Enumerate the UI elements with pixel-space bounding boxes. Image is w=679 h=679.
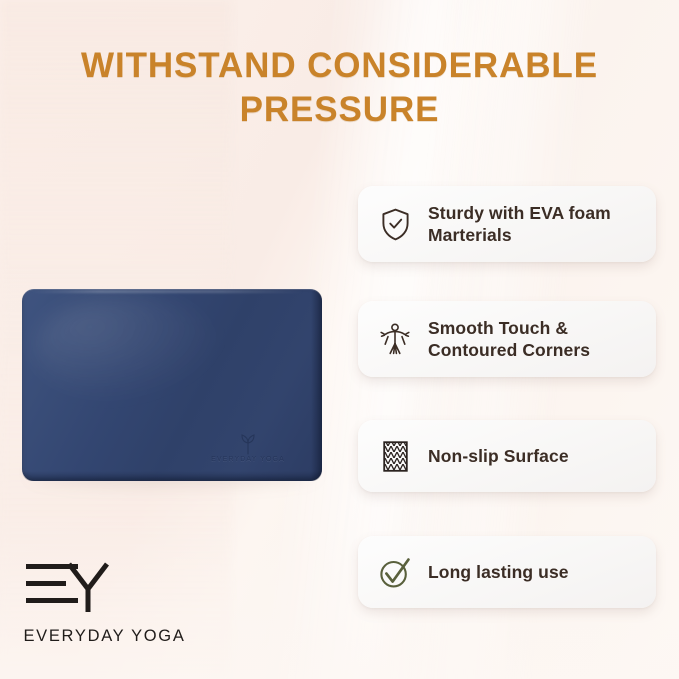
headline-title: WITHSTAND CONSIDERABLE PRESSURE bbox=[40, 44, 639, 133]
yoga-block-embossed-text: EVERYDAY YOGA bbox=[196, 456, 300, 463]
check-circle-icon bbox=[378, 553, 412, 591]
feature-card-list: Sturdy with EVA foam Marterials bbox=[358, 186, 656, 608]
ey-monogram-icon bbox=[22, 556, 187, 619]
vitruvian-figure-icon bbox=[378, 320, 412, 358]
y-leaf-mark-icon bbox=[196, 433, 300, 455]
brand-logo: EVERYDAY YOGA bbox=[22, 556, 187, 646]
feature-card-sturdy[interactable]: Sturdy with EVA foam Marterials bbox=[358, 186, 656, 262]
feature-card-label: Smooth Touch & Contoured Corners bbox=[428, 317, 642, 362]
yoga-block-bottom-edge bbox=[22, 471, 322, 481]
yoga-block-top-edge bbox=[30, 290, 304, 293]
yoga-block-embossed-logo: EVERYDAY YOGA bbox=[196, 433, 300, 463]
feature-card-long-lasting[interactable]: Long lasting use bbox=[358, 536, 656, 608]
yoga-block-side-face bbox=[311, 289, 322, 481]
feature-card-label: Sturdy with EVA foam Marterials bbox=[428, 202, 642, 247]
yoga-block-highlight bbox=[34, 295, 220, 401]
feature-card-label: Long lasting use bbox=[428, 561, 569, 583]
product-image: EVERYDAY YOGA bbox=[22, 289, 322, 481]
product-feature-graphic: WITHSTAND CONSIDERABLE PRESSURE EVERYDAY… bbox=[0, 0, 679, 679]
textured-surface-icon bbox=[378, 437, 412, 475]
brand-name-text: EVERYDAY YOGA bbox=[22, 627, 187, 646]
yoga-block-body: EVERYDAY YOGA bbox=[22, 289, 322, 481]
shield-check-icon bbox=[378, 205, 412, 243]
feature-card-non-slip[interactable]: Non-slip Surface bbox=[358, 420, 656, 492]
feature-card-label: Non-slip Surface bbox=[428, 445, 569, 467]
feature-card-smooth-touch[interactable]: Smooth Touch & Contoured Corners bbox=[358, 301, 656, 377]
